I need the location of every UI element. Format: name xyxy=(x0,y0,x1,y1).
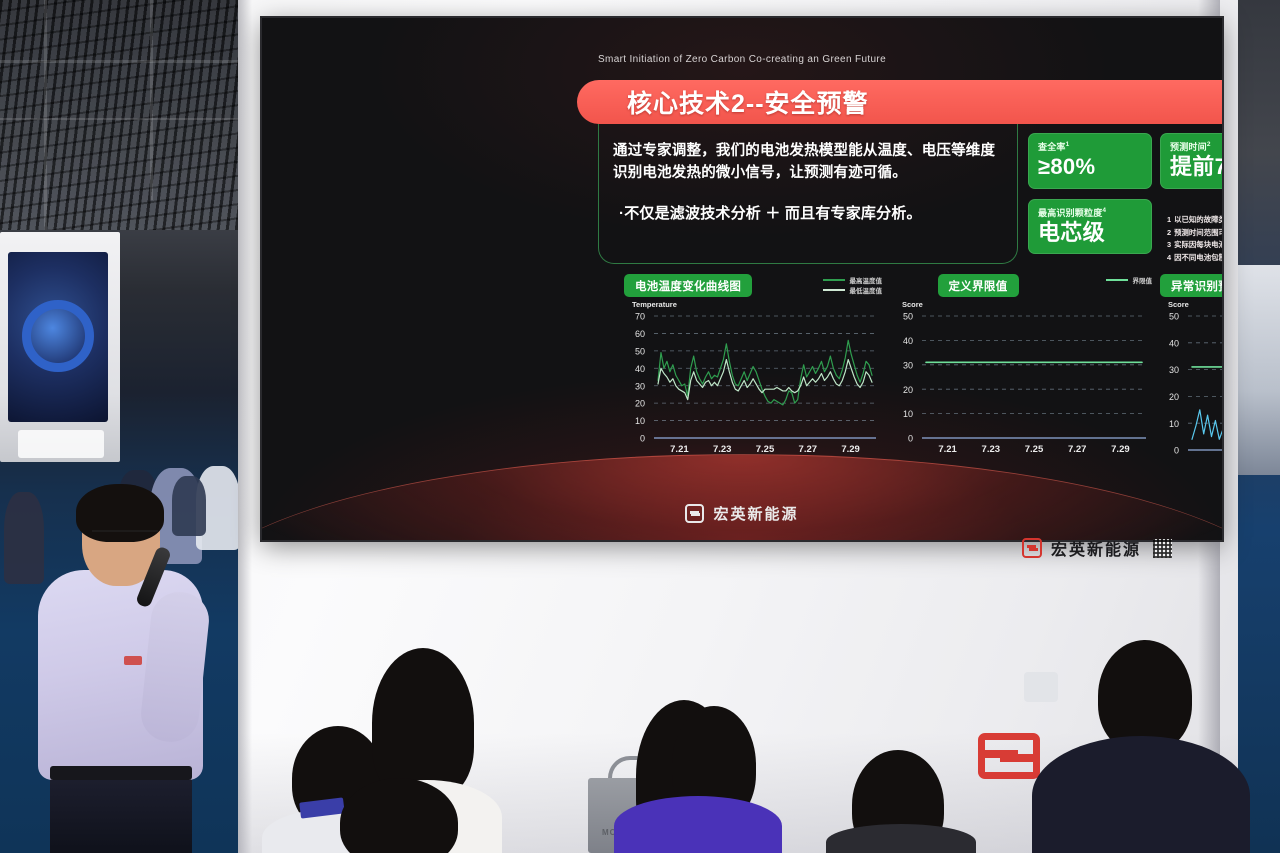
chart-title: 异常识别预测图 xyxy=(1160,274,1222,297)
svg-text:40: 40 xyxy=(903,336,913,346)
body-paragraph-2: ·不仅是滤波技术分析 ＋ 而且有专家库分析。 xyxy=(613,203,1003,226)
presenter-legs xyxy=(50,770,192,853)
metric-value: ≥80% xyxy=(1038,155,1142,180)
legend-label: 最高温度值 xyxy=(850,275,883,285)
booth-sign xyxy=(18,430,104,458)
svg-text:30: 30 xyxy=(903,360,913,370)
page-title: 核心技术2--安全预警 xyxy=(627,84,869,120)
legend-entry: 界限值 xyxy=(1106,275,1153,285)
metric-label: 最高识别颗粒度4 xyxy=(1038,206,1142,219)
metric-card-lead-time: 预测时间2 提前7天 xyxy=(1160,133,1222,189)
chart-svg: 01020304050 xyxy=(1160,310,1222,460)
chart-svg: 010203040507.217.237.257.277.29 xyxy=(894,310,1152,460)
legend-swatch xyxy=(1106,279,1128,281)
svg-text:10: 10 xyxy=(903,409,913,419)
glasses-icon xyxy=(1024,672,1058,702)
chart-header: 异常识别预测图 界限值 xyxy=(1160,274,1222,296)
audience-head xyxy=(372,648,474,798)
brand-name: 宏英新能源 xyxy=(713,503,798,524)
footnote-item: 4因不同电池包制造规格和数据质量而有不同。 xyxy=(1167,252,1222,265)
svg-text:70: 70 xyxy=(635,312,645,322)
legend-swatch xyxy=(823,279,845,281)
legend-label: 界限值 xyxy=(1133,275,1153,285)
chart-title: 电池温度变化曲线图 xyxy=(624,274,752,297)
chart-header: 定义界限值 界限值 xyxy=(894,274,1152,296)
brand-logo-icon xyxy=(685,504,704,523)
truss-beam xyxy=(0,118,262,120)
svg-text:7.23: 7.23 xyxy=(982,444,1001,455)
chart-threshold-definition: 定义界限值 界限值 Score 010203040507.217.237.257… xyxy=(894,274,1152,460)
svg-text:10: 10 xyxy=(635,416,645,426)
svg-text:7.25: 7.25 xyxy=(756,444,775,455)
chart-y-axis-label: Score xyxy=(902,300,1152,309)
svg-text:7.21: 7.21 xyxy=(938,444,957,455)
wall-logo-mark-large xyxy=(978,733,1040,779)
svg-text:20: 20 xyxy=(1169,392,1179,402)
svg-text:50: 50 xyxy=(635,346,645,356)
brand-name: 宏英新能源 xyxy=(1051,536,1141,560)
qr-code-icon xyxy=(1153,539,1172,558)
svg-text:7.21: 7.21 xyxy=(670,444,689,455)
audience-shoulders xyxy=(1032,736,1250,853)
brand-logo-icon xyxy=(1022,538,1042,558)
chart-y-axis-label: Temperature xyxy=(632,300,882,309)
svg-text:30: 30 xyxy=(1169,365,1179,375)
wall-edge-shadow xyxy=(238,0,252,853)
truss-column xyxy=(150,0,153,200)
svg-text:7.27: 7.27 xyxy=(1068,444,1087,455)
svg-text:0: 0 xyxy=(908,434,913,444)
svg-text:7.29: 7.29 xyxy=(841,444,860,455)
audience-shoulders xyxy=(826,824,976,853)
svg-text:7.23: 7.23 xyxy=(713,444,732,455)
chart-header: 电池温度变化曲线图 最高温度值 最低温度值 xyxy=(624,274,882,296)
footnote-item: 3实际因每块电池的使用场景不同而有差异。 xyxy=(1167,239,1222,252)
audience-shoulders xyxy=(614,796,782,853)
metric-card-granularity: 最高识别颗粒度4 电芯级 xyxy=(1028,199,1152,255)
svg-text:20: 20 xyxy=(635,399,645,409)
metric-label: 查全率1 xyxy=(1038,140,1142,153)
chart-legend: 界限值 xyxy=(1106,274,1153,285)
footnote-item: 1以已知的故障类型为基础，实际因场景和电池材料不同有区别 。 xyxy=(1167,214,1222,227)
chart-anomaly-prediction: 异常识别预测图 界限值 Score 01020304050 xyxy=(1160,274,1222,460)
svg-text:7.27: 7.27 xyxy=(799,444,818,455)
slide-title-banner: 核心技术2--安全预警 xyxy=(577,80,1222,124)
chart-plot-area: 0102030405060707.217.237.257.277.29 xyxy=(624,310,882,460)
svg-text:30: 30 xyxy=(635,381,645,391)
svg-text:10: 10 xyxy=(1169,419,1179,429)
svg-text:50: 50 xyxy=(903,312,913,322)
svg-text:60: 60 xyxy=(635,329,645,339)
chart-legend: 最高温度值 最低温度值 xyxy=(823,274,883,295)
booth-ring-graphic xyxy=(22,300,94,372)
legend-label: 最低温度值 xyxy=(850,285,883,295)
metric-label: 预测时间2 xyxy=(1170,140,1222,153)
wall-brand-lockup: 宏英新能源 xyxy=(1022,536,1172,560)
svg-text:20: 20 xyxy=(903,385,913,395)
truss-column xyxy=(44,0,47,230)
truss-beam xyxy=(0,60,262,63)
svg-text:50: 50 xyxy=(1169,312,1179,322)
footnote-list: 1以已知的故障类型为基础，实际因场景和电池材料不同有区别 。 2预测时间范围可依… xyxy=(1167,214,1222,265)
svg-text:0: 0 xyxy=(1174,446,1179,456)
chart-row: 电池温度变化曲线图 最高温度值 最低温度值 Temperature xyxy=(262,274,1222,489)
chart-battery-temperature: 电池温度变化曲线图 最高温度值 最低温度值 Temperature xyxy=(624,274,882,460)
chart-plot-area: 01020304050 xyxy=(1160,310,1222,460)
chart-svg: 0102030405060707.217.237.257.277.29 xyxy=(624,310,882,460)
slide-body-panel: 通过专家调整，我们的电池发热模型能从温度、电压等维度识别电池发热的微小信号，让预… xyxy=(598,124,1018,264)
chart-y-axis-label: Score xyxy=(1168,300,1222,309)
led-presentation-screen: Smart Initiation of Zero Carbon Co-creat… xyxy=(262,18,1222,540)
legend-entry: 最高温度值 xyxy=(823,275,883,285)
glasses-icon xyxy=(92,530,158,542)
metric-card-recall: 查全率1 ≥80% xyxy=(1028,133,1152,189)
svg-text:7.25: 7.25 xyxy=(1025,444,1044,455)
svg-text:0: 0 xyxy=(640,434,645,444)
metric-value: 提前7天 xyxy=(1170,155,1222,180)
chart-plot-area: 010203040507.217.237.257.277.29 xyxy=(894,310,1152,460)
body-paragraph-1: 通过专家调整，我们的电池发热模型能从温度、电压等维度识别电池发热的微小信号，让预… xyxy=(613,140,1003,185)
metric-value: 电芯级 xyxy=(1038,221,1142,246)
slide-eyebrow-text: Smart Initiation of Zero Carbon Co-creat… xyxy=(262,54,1222,65)
hall-ceiling-truss xyxy=(0,0,262,230)
presenter-logo-badge xyxy=(124,656,142,665)
presenter xyxy=(28,470,218,853)
exhibition-scene: Smart Initiation of Zero Carbon Co-creat… xyxy=(0,0,1280,853)
legend-entry: 最低温度值 xyxy=(823,285,883,295)
svg-text:40: 40 xyxy=(1169,338,1179,348)
svg-text:7.29: 7.29 xyxy=(1111,444,1130,455)
footnote-item: 2预测时间范围可依据需求调整，以实际结果为准。 xyxy=(1167,227,1222,240)
slide-brand-lockup: 宏英新能源 xyxy=(262,503,1222,524)
chart-title: 定义界限值 xyxy=(938,274,1019,297)
presenter-belt xyxy=(50,766,192,780)
svg-text:40: 40 xyxy=(635,364,645,374)
legend-swatch xyxy=(823,289,845,291)
